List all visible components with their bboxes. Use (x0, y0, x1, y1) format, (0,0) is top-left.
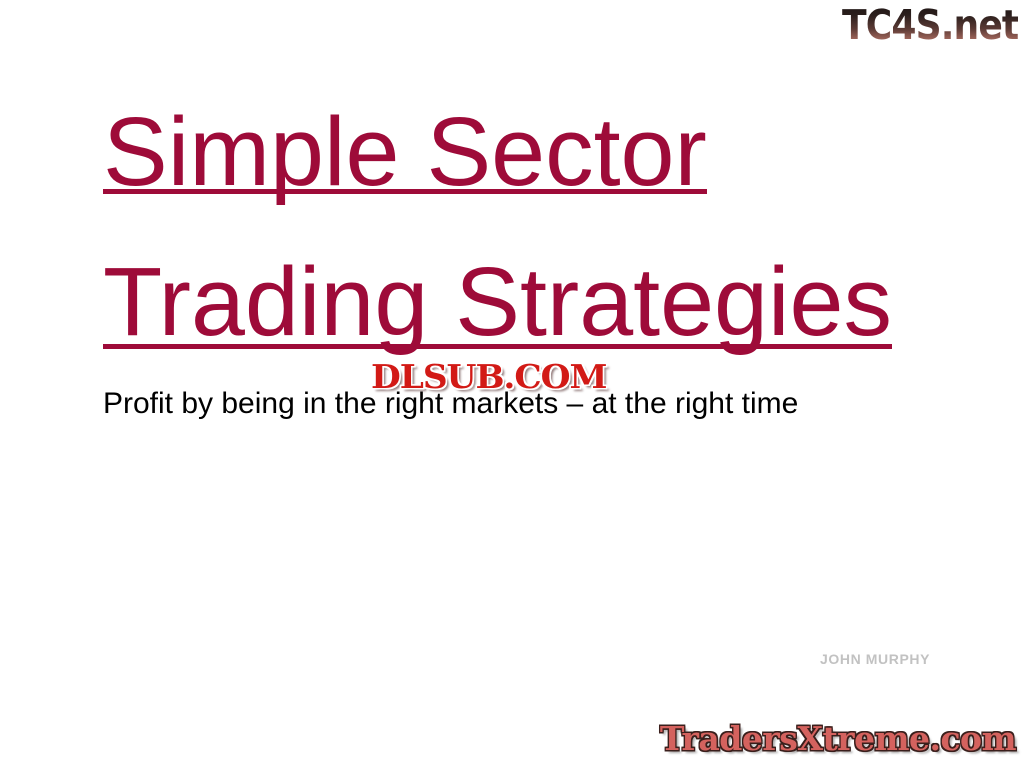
title-block: Simple Sector Trading Strategies (103, 100, 923, 354)
dlsub-watermark: DLSUB.COM (371, 360, 606, 394)
page-title-line-2: Trading Strategies (103, 250, 892, 354)
presentation-slide: TC4S.net Simple Sector Trading Strategie… (0, 0, 1024, 768)
title-underline-2 (103, 344, 892, 349)
tc4s-logo: TC4S.net (842, 2, 1018, 48)
title-underline-1 (103, 189, 707, 194)
author-credit: JOHN MURPHY (820, 650, 930, 668)
tradersxtreme-watermark: TradersXtreme.com (660, 720, 1016, 758)
